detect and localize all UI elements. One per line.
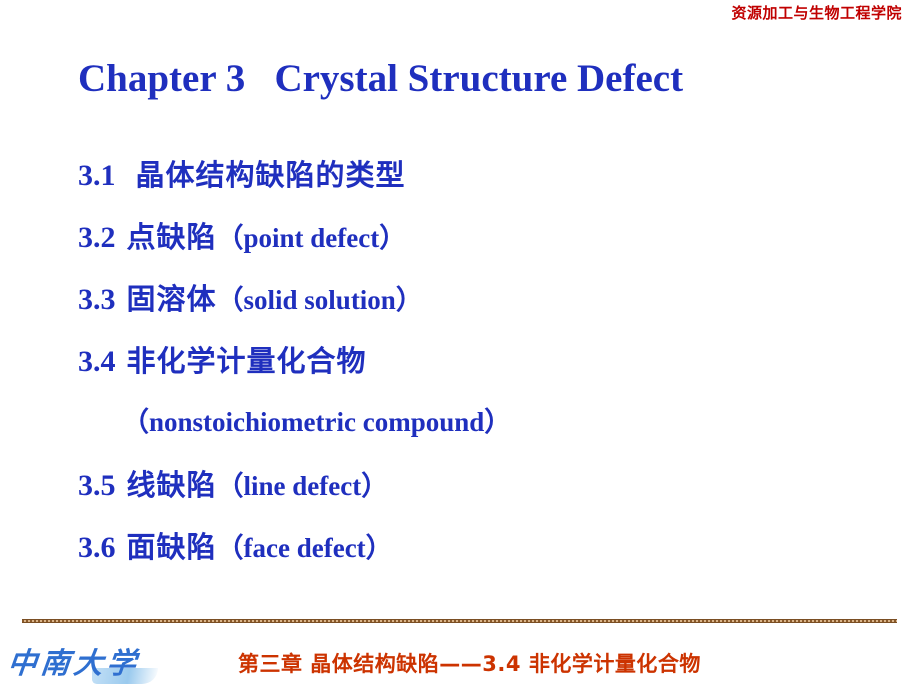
list-item-number: 3.5 (78, 469, 116, 503)
list-item-number: 3.1 (78, 159, 116, 193)
list-item-label-cn: 线缺陷 (127, 462, 217, 504)
list-item: 3.4 非化学计量化合物 (78, 338, 878, 400)
list-item-number: 3.6 (78, 531, 116, 565)
slide-header: 资源加工与生物工程学院 (0, 0, 920, 28)
list-item: 3.1 晶体结构缺陷的类型 (78, 152, 878, 214)
list-item-number: 3.4 (78, 345, 116, 379)
outline-list: 3.1 晶体结构缺陷的类型 3.2 点缺陷 （point defect） 3.3… (78, 152, 878, 586)
slide-canvas: { "header": { "institution": "资源加工与生物工程学… (0, 0, 920, 690)
list-item-continuation: （nonstoichiometric compound） (78, 400, 878, 462)
institution-name: 资源加工与生物工程学院 (731, 2, 902, 23)
list-item-number: 3.2 (78, 221, 116, 255)
list-item: 3.3 固溶体 （solid solution） (78, 276, 878, 338)
list-item-label-cn: 固溶体 (127, 276, 217, 318)
list-item: 3.5 线缺陷 （line defect） (78, 462, 878, 524)
list-item-number: 3.3 (78, 283, 116, 317)
list-item-label-en: （point defect） (217, 216, 407, 255)
footer-divider (22, 619, 897, 623)
list-item-label-cn: 晶体结构缺陷的类型 (136, 152, 406, 194)
list-item: 3.6 面缺陷 （face defect） (78, 524, 878, 586)
list-item-label-en: （nonstoichiometric compound） (122, 400, 511, 439)
list-item-label-en: （solid solution） (217, 278, 423, 317)
university-logo-text: 中南大学 (6, 640, 142, 682)
list-item-label-cn: 点缺陷 (127, 214, 217, 256)
footer-caption: 第三章 晶体结构缺陷——3.4 非化学计量化合物 (238, 648, 701, 678)
page-title: Chapter 3 Crystal Structure Defect (78, 56, 683, 101)
list-item-label-cn: 面缺陷 (127, 524, 217, 566)
list-item: 3.2 点缺陷 （point defect） (78, 214, 878, 276)
list-item-label-en: （line defect） (217, 464, 389, 503)
list-item-label-cn: 非化学计量化合物 (127, 338, 367, 380)
university-logo: 中南大学 (6, 638, 158, 686)
list-item-label-en: （face defect） (217, 526, 393, 565)
